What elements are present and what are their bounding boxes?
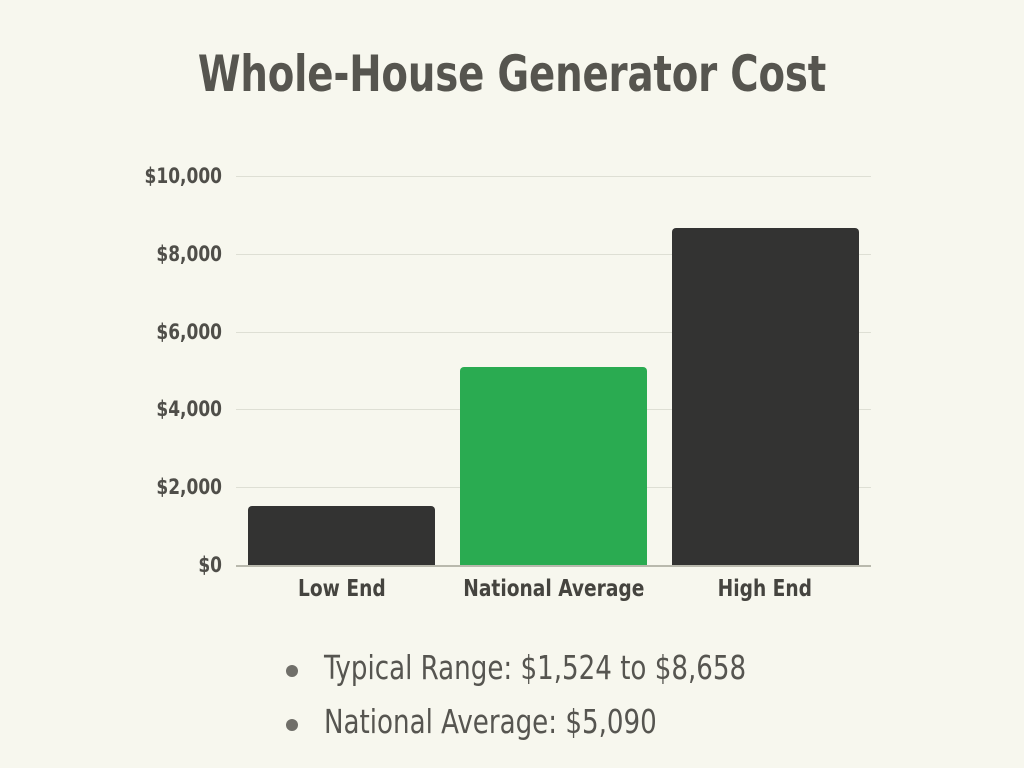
summary-bullet-list: Typical Range: $1,524 to $8,658National … bbox=[282, 645, 804, 753]
list-item: National Average: $5,090 bbox=[282, 699, 804, 746]
x-axis-tick-label: Low End bbox=[247, 576, 437, 602]
x-axis-line bbox=[236, 565, 871, 567]
y-axis-tick-label: $2,000 bbox=[114, 475, 222, 499]
bullet-dot-icon bbox=[286, 719, 298, 731]
bullet-dot-icon bbox=[286, 665, 298, 677]
generator-cost-infographic: Whole-House Generator Cost $0$2,000$4,00… bbox=[0, 0, 1024, 768]
y-axis-tick-label: $10,000 bbox=[114, 164, 222, 188]
chart-plot-area bbox=[236, 176, 871, 565]
y-axis-tick-label: $8,000 bbox=[114, 242, 222, 266]
x-axis-tick-label: National Average bbox=[458, 576, 648, 602]
y-axis-tick-label: $0 bbox=[114, 553, 222, 577]
gridline bbox=[236, 176, 871, 177]
bar-national-average bbox=[460, 367, 647, 565]
x-axis-tick-label: High End bbox=[670, 576, 860, 602]
y-axis-tick-label: $6,000 bbox=[114, 320, 222, 344]
page-title: Whole-House Generator Cost bbox=[72, 48, 953, 101]
bar-high-end bbox=[672, 228, 859, 565]
bar-low-end bbox=[248, 506, 435, 565]
y-axis-tick-label: $4,000 bbox=[114, 397, 222, 421]
list-item: Typical Range: $1,524 to $8,658 bbox=[282, 645, 804, 692]
list-item-label: National Average: $5,090 bbox=[324, 699, 657, 746]
list-item-label: Typical Range: $1,524 to $8,658 bbox=[324, 645, 746, 692]
